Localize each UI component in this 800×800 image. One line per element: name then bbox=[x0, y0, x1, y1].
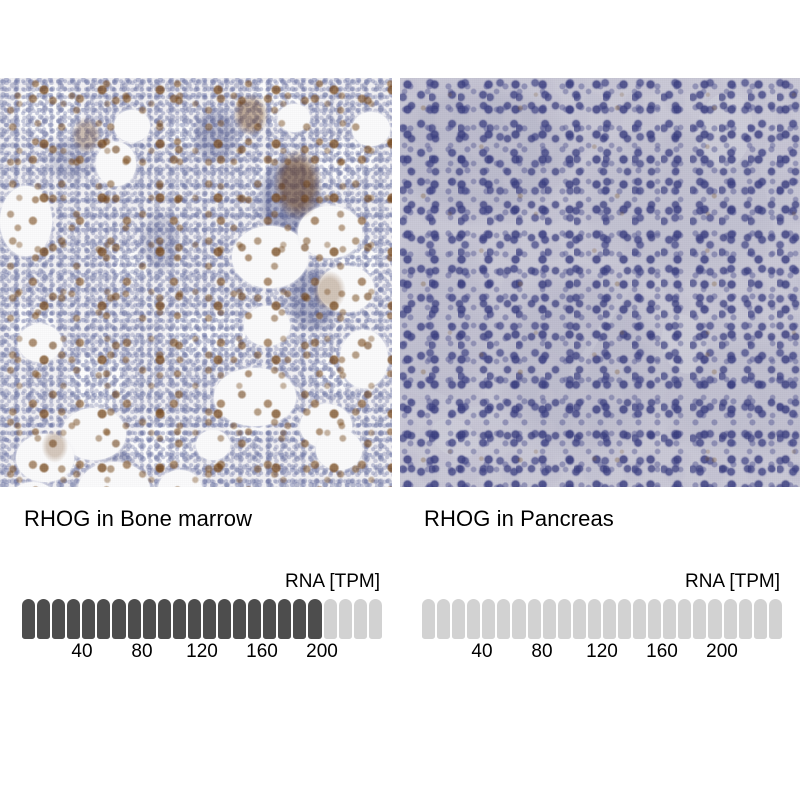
micrograph-pancreas[interactable] bbox=[400, 78, 800, 487]
rna-gauge-pancreas: RNA [TPM] 4080120160200 bbox=[422, 570, 782, 667]
gauge-segment bbox=[324, 599, 337, 639]
gauge-segment bbox=[754, 599, 767, 639]
gauge-segment bbox=[633, 599, 646, 639]
gauge-segment bbox=[482, 599, 495, 639]
gauge-segment bbox=[293, 599, 306, 639]
gauge-segment bbox=[422, 599, 435, 639]
gauge-segment bbox=[558, 599, 571, 639]
rna-gauge-bone-marrow: RNA [TPM] 4080120160200 bbox=[22, 570, 382, 667]
gauge-scale: 4080120160200 bbox=[22, 641, 382, 667]
gauge-segment bbox=[769, 599, 782, 639]
gauge-bar-track[interactable] bbox=[22, 599, 382, 639]
gauge-segment bbox=[112, 599, 125, 639]
gauge-segment bbox=[173, 599, 186, 639]
gauge-tick-label: 120 bbox=[186, 641, 218, 663]
gauge-segment bbox=[512, 599, 525, 639]
caption-pancreas: RHOG in Pancreas bbox=[424, 506, 614, 532]
image-grain-overlay bbox=[0, 78, 392, 487]
gauge-segment bbox=[369, 599, 382, 639]
gauge-segment bbox=[437, 599, 450, 639]
gauge-segment bbox=[603, 599, 616, 639]
gauge-segment bbox=[128, 599, 141, 639]
gauge-tick-label: 160 bbox=[646, 641, 678, 663]
gauge-segment bbox=[263, 599, 276, 639]
gauge-scale: 4080120160200 bbox=[422, 641, 782, 667]
gauge-segment bbox=[693, 599, 706, 639]
gauge-segment bbox=[158, 599, 171, 639]
gauge-tick-label: 40 bbox=[71, 641, 92, 663]
caption-bone-marrow: RHOG in Bone marrow bbox=[24, 506, 252, 532]
gauge-tick-label: 80 bbox=[131, 641, 152, 663]
micrograph-bone-marrow[interactable] bbox=[0, 78, 392, 487]
gauge-segment bbox=[452, 599, 465, 639]
gauge-segment bbox=[22, 599, 35, 639]
gauge-segment bbox=[528, 599, 541, 639]
gauge-segment bbox=[467, 599, 480, 639]
page-root: RHOG in Bone marrow RHOG in Pancreas RNA… bbox=[0, 0, 800, 800]
gauge-segment bbox=[82, 599, 95, 639]
gauge-segment bbox=[543, 599, 556, 639]
gauge-segment bbox=[708, 599, 721, 639]
gauge-tick-label: 160 bbox=[246, 641, 278, 663]
gauge-segment bbox=[67, 599, 80, 639]
image-grain-overlay bbox=[400, 78, 800, 487]
gauge-segment bbox=[97, 599, 110, 639]
gauge-tick-label: 40 bbox=[471, 641, 492, 663]
gauge-segment bbox=[233, 599, 246, 639]
gauge-tick-label: 80 bbox=[531, 641, 552, 663]
gauge-segment bbox=[248, 599, 261, 639]
gauge-segment bbox=[218, 599, 231, 639]
gauge-segment bbox=[663, 599, 676, 639]
gauge-segment bbox=[52, 599, 65, 639]
gauge-segment bbox=[188, 599, 201, 639]
gauge-segment bbox=[339, 599, 352, 639]
gauge-bar-track[interactable] bbox=[422, 599, 782, 639]
gauge-segment bbox=[308, 599, 321, 639]
gauge-segment bbox=[203, 599, 216, 639]
gauge-segment bbox=[618, 599, 631, 639]
gauge-segment bbox=[648, 599, 661, 639]
gauge-segment bbox=[143, 599, 156, 639]
gauge-tick-label: 200 bbox=[706, 641, 738, 663]
gauge-segment bbox=[739, 599, 752, 639]
gauge-segment bbox=[497, 599, 510, 639]
rna-tpm-label: RNA [TPM] bbox=[422, 570, 782, 594]
gauge-tick-label: 120 bbox=[586, 641, 618, 663]
gauge-tick-label: 200 bbox=[306, 641, 338, 663]
gauge-segment bbox=[724, 599, 737, 639]
gauge-segment bbox=[37, 599, 50, 639]
gauge-segment bbox=[354, 599, 367, 639]
gauge-segment bbox=[588, 599, 601, 639]
gauge-segment bbox=[278, 599, 291, 639]
gauge-segment bbox=[678, 599, 691, 639]
gauge-segment bbox=[573, 599, 586, 639]
rna-tpm-label: RNA [TPM] bbox=[22, 570, 382, 594]
